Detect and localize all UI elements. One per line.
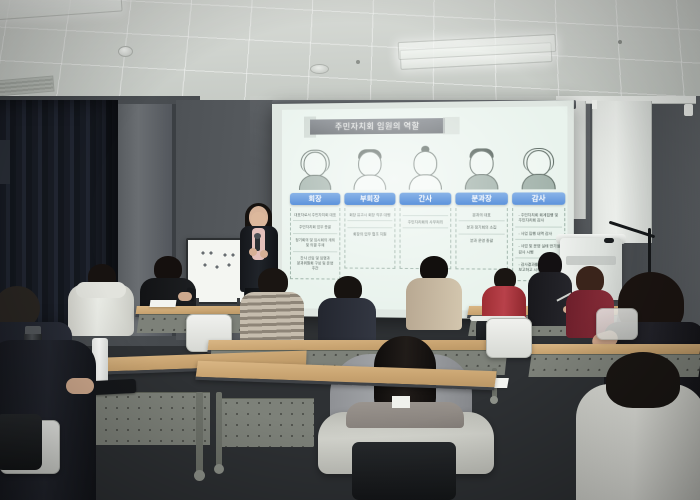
slide-column-division-head: 분과장 분과의 대표 분과 정기회의 소집 분과 운영 총괄 [455,150,507,269]
slide-title: 주민자치회 임원의 역할 [335,120,420,132]
slide-column-vice-chair: 부회장 회장 유고시 회장 직무 대행 회장의 업무 협조 지원 [344,151,395,269]
role-detail: 분과의 대표 [459,211,505,222]
table-caster-front [194,470,205,481]
table-leg-front [196,392,203,474]
body [406,278,462,330]
role-badge-vice-chair: 부회장 [344,193,395,205]
head-icon [413,151,437,177]
avatar-secretary [408,151,443,190]
microphone-capsule-icon [254,233,261,239]
body-icon [522,174,556,190]
hand-holding-phone [178,292,192,301]
role-badge-division-head: 분과장 [455,192,507,204]
window-blind-2 [592,101,652,243]
audience-member-striped [240,268,304,344]
audience-member-white-puffer [68,264,134,334]
role-detail: 정기회의 및 임시회의 개최 및 의결 주재 [293,236,337,252]
role-badge-secretary: 간사 [400,193,452,205]
audience-member-navy [318,276,376,346]
coat-label [392,396,410,408]
avatar-division-head [464,150,500,189]
role-detail: 분과 정기회의 소집 [459,224,505,235]
ceiling-mount-2 [618,40,622,44]
foreground-person-right-head [606,352,680,408]
wall-panel-small [0,140,10,184]
table-leg-front-2 [216,392,222,468]
body-icon [409,174,442,189]
chair-back-light-4 [596,308,638,340]
role-detail [403,211,449,216]
role-detail: 주민자치회 업무 총괄 [293,223,337,234]
microphone-head-icon [604,238,614,243]
role-detail [403,231,449,235]
chair-back-light-2 [486,318,532,358]
head-icon [526,150,550,176]
role-detail-box-division-head: 분과의 대표 분과 정기회의 소집 분과 운영 총괄 [455,208,507,270]
role-detail: - 주민자치회 회계집행 및 주민자치회 감사 [515,211,562,227]
ceiling-mount-1 [356,60,360,64]
puffer-hood [76,282,126,298]
avatar-vice-chair [352,151,387,190]
slide-column-secretary: 간사 주민자치회의 사무처리 [400,151,452,270]
title-tab-right [443,117,460,135]
presenter-hand-left [249,248,257,256]
role-detail: 회장 유고시 회장 직무 대행 [347,211,392,222]
body-icon [354,175,387,190]
role-detail-box-vice-chair: 회장 유고시 회장 직무 대행 회장의 업무 협조 지원 [344,208,395,269]
ceiling-speaker-icon [310,64,329,74]
chair-back-dark-2 [0,414,42,470]
foreground-hand-left [66,378,94,394]
head-icon [304,152,327,177]
thermos-cap [25,326,41,334]
role-badge-auditor: 감사 [512,192,565,204]
slide-column-chairperson: 회장 대표자로서 주민자치회 대표 주민자치회 업무 총괄 정기회의 및 임시회… [290,152,340,280]
smoke-detector-icon [118,46,133,57]
wall-sensor-icon [684,104,693,116]
role-detail: 분과 운영 총괄 [459,236,505,246]
meeting-room-photo: 주민자치회 임원의 역할 회장 대표자로서 주민자치회 대표 주민자치회 업무 … [0,0,700,500]
audience-member-beige [406,256,462,328]
presenter-hand-right [260,250,268,258]
avatar-auditor [521,150,557,189]
paper-handout-1 [150,300,177,307]
role-detail [347,224,392,229]
role-detail: 회장의 업무 협조 지원 [347,231,392,241]
chair-cushion-foreground [352,442,456,500]
avatar-chairperson [298,152,332,190]
head-icon [358,151,381,176]
body-icon [299,175,331,190]
smartphone-1 [92,379,137,395]
table-skirt-front-right [222,398,314,447]
table-caster [490,396,498,404]
role-badge-chairperson: 회장 [290,193,340,205]
whiteboard-writing [195,247,237,295]
blind-bracket-2 [592,100,597,109]
role-detail: 대표자로서 주민자치회 대표 [293,211,337,221]
body-icon [465,174,499,190]
table-caster-front-2 [214,464,224,474]
body [240,292,304,346]
slide-title-bar: 주민자치회 임원의 역할 [310,118,445,135]
role-detail: 주민자치회의 사무처리 [403,218,449,229]
head-icon [470,150,494,176]
podium-front-panel [566,256,616,265]
